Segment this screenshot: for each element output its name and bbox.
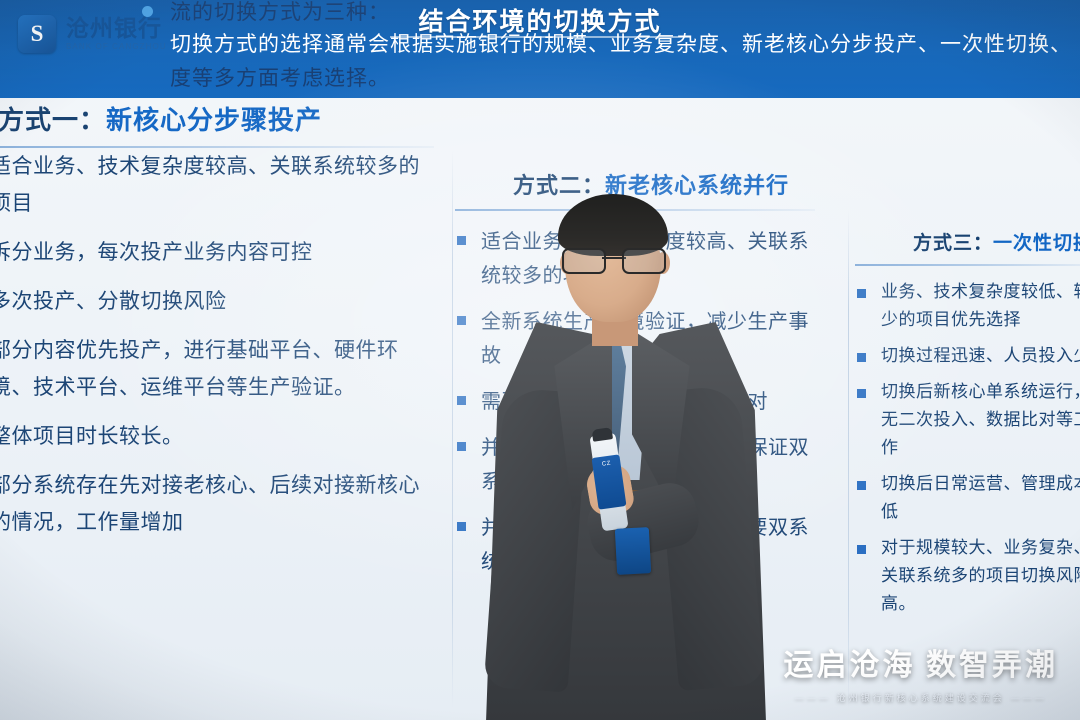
event-subtitle-dash-left: ——— <box>795 693 831 703</box>
bank-name-en: BANK OF CANGZHOU <box>66 43 167 51</box>
column-3-title: 一次性切换 <box>993 233 1080 254</box>
bank-logo-icon <box>18 15 56 53</box>
slide-column-1: 方式一：新核心分步骤投产 适合业务、技术复杂度较高、关联系统较多的项目 拆分业务… <box>0 100 434 553</box>
list-item: 切换后日常运营、管理成本低 <box>855 470 1080 526</box>
bank-logo-text: 沧州银行 BANK OF CANGZHOU <box>66 17 167 52</box>
glasses-icon <box>562 248 666 272</box>
column-divider-1 <box>452 150 453 710</box>
column-1-title: 新核心分步骤投产 <box>106 105 322 135</box>
column-1-heading: 方式一：新核心分步骤投产 <box>0 100 434 137</box>
column-3-rule <box>855 264 1080 266</box>
column-divider-2 <box>848 210 849 710</box>
list-item: 切换后新核心单系统运行，无二次投入、数据比对等工作 <box>855 378 1080 462</box>
column-1-label: 方式一： <box>0 105 106 135</box>
list-item: 拆分业务，每次投产业务内容可控 <box>0 234 434 271</box>
column-3-label: 方式三： <box>913 233 993 254</box>
list-item: 切换过程迅速、人员投入少 <box>855 342 1080 370</box>
speaker-figure: CZ <box>470 190 800 720</box>
event-title: 运启沧海 数智弄潮 <box>784 640 1059 684</box>
column-3-heading: 方式三：一次性切换 <box>855 228 1080 255</box>
event-subtitle-row: ———沧州银行新核心系统建设交流会——— <box>784 691 1059 704</box>
intro-line-3: 度等多方面考虑选择。 <box>170 62 390 95</box>
event-subtitle: 沧州银行新核心系统建设交流会 <box>837 693 1005 703</box>
event-subtitle-dash-right: ——— <box>1011 693 1047 703</box>
speaker-hair <box>558 194 668 256</box>
conference-photo: 结合环境的切换方式 流的切换方式为三种： 切换方式的选择通常会根据实施银行的规模… <box>0 0 1080 720</box>
bank-logo: 沧州银行 BANK OF CANGZHOU <box>18 8 258 60</box>
list-item: 整体项目时长较长。 <box>0 418 434 455</box>
list-item: 对于规模较大、业务复杂、关联系统多的项目切换风险高。 <box>855 534 1080 618</box>
column-1-bullets: 适合业务、技术复杂度较高、关联系统较多的项目 拆分业务，每次投产业务内容可控 多… <box>0 148 434 541</box>
list-item: 业务、技术复杂度较低、较少的项目优先选择 <box>855 278 1080 334</box>
speaker-badge <box>615 527 651 575</box>
list-item: 适合业务、技术复杂度较高、关联系统较多的项目 <box>0 148 434 222</box>
glasses-lens-right <box>622 248 666 274</box>
list-item: 部分内容优先投产，进行基础平台、硬件环境、技术平台、运维平台等生产验证。 <box>0 332 434 406</box>
event-lockup: 运启沧海 数智弄潮 ———沧州银行新核心系统建设交流会——— <box>784 640 1059 704</box>
slide-column-3: 方式三：一次性切换 业务、技术复杂度较低、较少的项目优先选择 切换过程迅速、人员… <box>855 228 1080 626</box>
column-3-bullets: 业务、技术复杂度较低、较少的项目优先选择 切换过程迅速、人员投入少 切换后新核心… <box>855 278 1080 618</box>
list-item: 多次投产、分散切换风险 <box>0 283 434 320</box>
intro-line-2: 切换方式的选择通常会根据实施银行的规模、业务复杂度、新老核心分步投产、一次性切换… <box>170 28 1072 61</box>
list-item: 部分系统存在先对接老核心、后续对接新核心的情况，工作量增加 <box>0 467 434 541</box>
bank-name-cn: 沧州银行 <box>66 17 167 41</box>
glasses-lens-left <box>562 248 606 274</box>
